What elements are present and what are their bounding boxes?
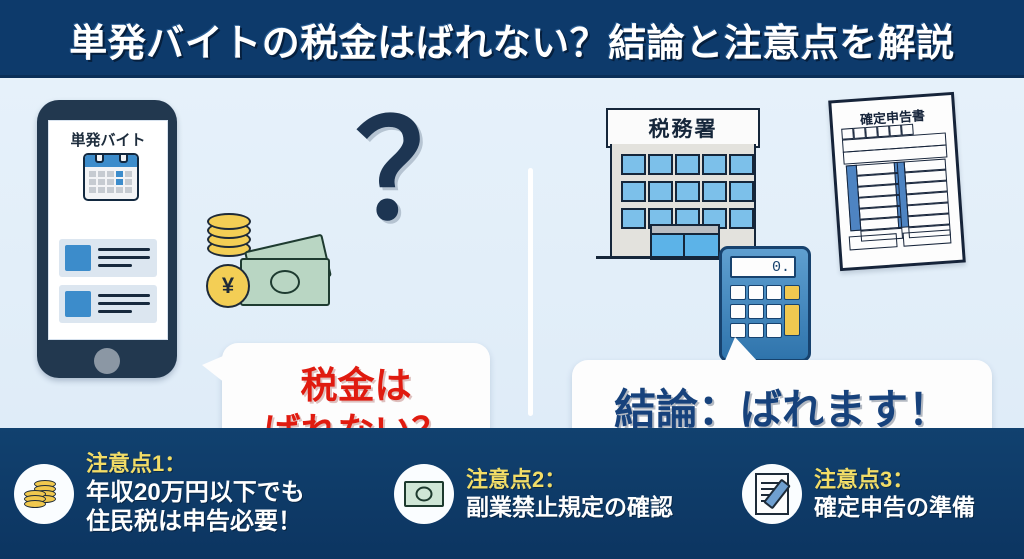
calendar-icon: [83, 153, 139, 201]
phone-home-button: [94, 348, 120, 374]
smartphone-illustration: 単発バイト: [37, 100, 177, 378]
calendar-grid: [89, 171, 132, 193]
banknote-icon: [240, 258, 330, 306]
banknote-shape: [404, 481, 444, 507]
tip-text-3: 注意点3： 確定申告の準備: [814, 466, 975, 522]
building-window-grid: [621, 154, 750, 229]
question-mark-icon: ？: [355, 103, 491, 239]
phone-notch: [87, 100, 129, 109]
tip-text-1: 注意点1： 年収20万円以下でも 住民税は申告必要！: [86, 450, 305, 536]
bubble-tail: [724, 337, 759, 363]
tax-office-building-icon: 税務署: [596, 108, 766, 268]
calculator-display: 0.: [730, 256, 796, 278]
phone-screen: 単発バイト: [48, 120, 168, 340]
form-footer-bar: [903, 229, 952, 246]
banknote-oval: [416, 486, 433, 501]
panel-divider: [528, 168, 533, 416]
tip-body-line-1: 年収20万円以下でも: [86, 478, 305, 507]
phone-app-title: 単発バイト: [49, 129, 167, 150]
tip-heading: 注意点3：: [814, 466, 975, 494]
calendar-ring-left: [95, 153, 104, 163]
form-footer-bar: [849, 233, 898, 250]
tip-heading: 注意点2：: [466, 466, 673, 494]
coin-stack-icon: [14, 464, 74, 524]
thumbnail-block: [65, 245, 91, 271]
tip-heading: 注意点1：: [86, 450, 305, 478]
thumbnail-block: [65, 291, 91, 317]
tip-body-line-2: 住民税は申告必要！: [86, 507, 305, 536]
tax-office-sign: 税務署: [606, 108, 760, 148]
list-item: [59, 239, 157, 277]
calculator-keypad: [730, 285, 798, 338]
yen-coin-icon: ¥: [206, 264, 250, 308]
document-pencil-icon: [742, 464, 802, 524]
tip-text-2: 注意点2： 副業禁止規定の確認: [466, 466, 673, 522]
banknote-icon: [394, 464, 454, 524]
tax-office-body: [610, 144, 756, 258]
infographic-page: 単発バイトの税金はばれない？結論と注意点を解説 単発バイト: [0, 0, 1024, 559]
tip-item-3: 注意点3： 確定申告の準備: [720, 428, 1024, 559]
document-shape: [755, 473, 789, 515]
form-line-group: [904, 159, 951, 239]
banknote-oval: [270, 270, 300, 294]
tips-bar: 注意点1： 年収20万円以下でも 住民税は申告必要！ 注意点2： 副業禁止規定の…: [0, 428, 1024, 559]
tip-body-line-1: 確定申告の準備: [814, 493, 975, 521]
tip-item-2: 注意点2： 副業禁止規定の確認: [390, 428, 720, 559]
header-banner: 単発バイトの税金はばれない？結論と注意点を解説: [0, 0, 1024, 78]
form-line-group: [856, 162, 903, 242]
tip-item-1: 注意点1： 年収20万円以下でも 住民税は申告必要！: [0, 428, 390, 559]
main-stage: 単発バイト: [0, 78, 1024, 428]
page-title: 単発バイトの税金はばれない？結論と注意点を解説: [69, 12, 955, 67]
list-item: [59, 285, 157, 323]
tip-body-line-1: 副業禁止規定の確認: [466, 493, 673, 521]
calendar-ring-right: [119, 153, 128, 163]
calendar-header: [85, 155, 137, 167]
tax-return-form-icon: 確定申告書: [828, 92, 966, 271]
